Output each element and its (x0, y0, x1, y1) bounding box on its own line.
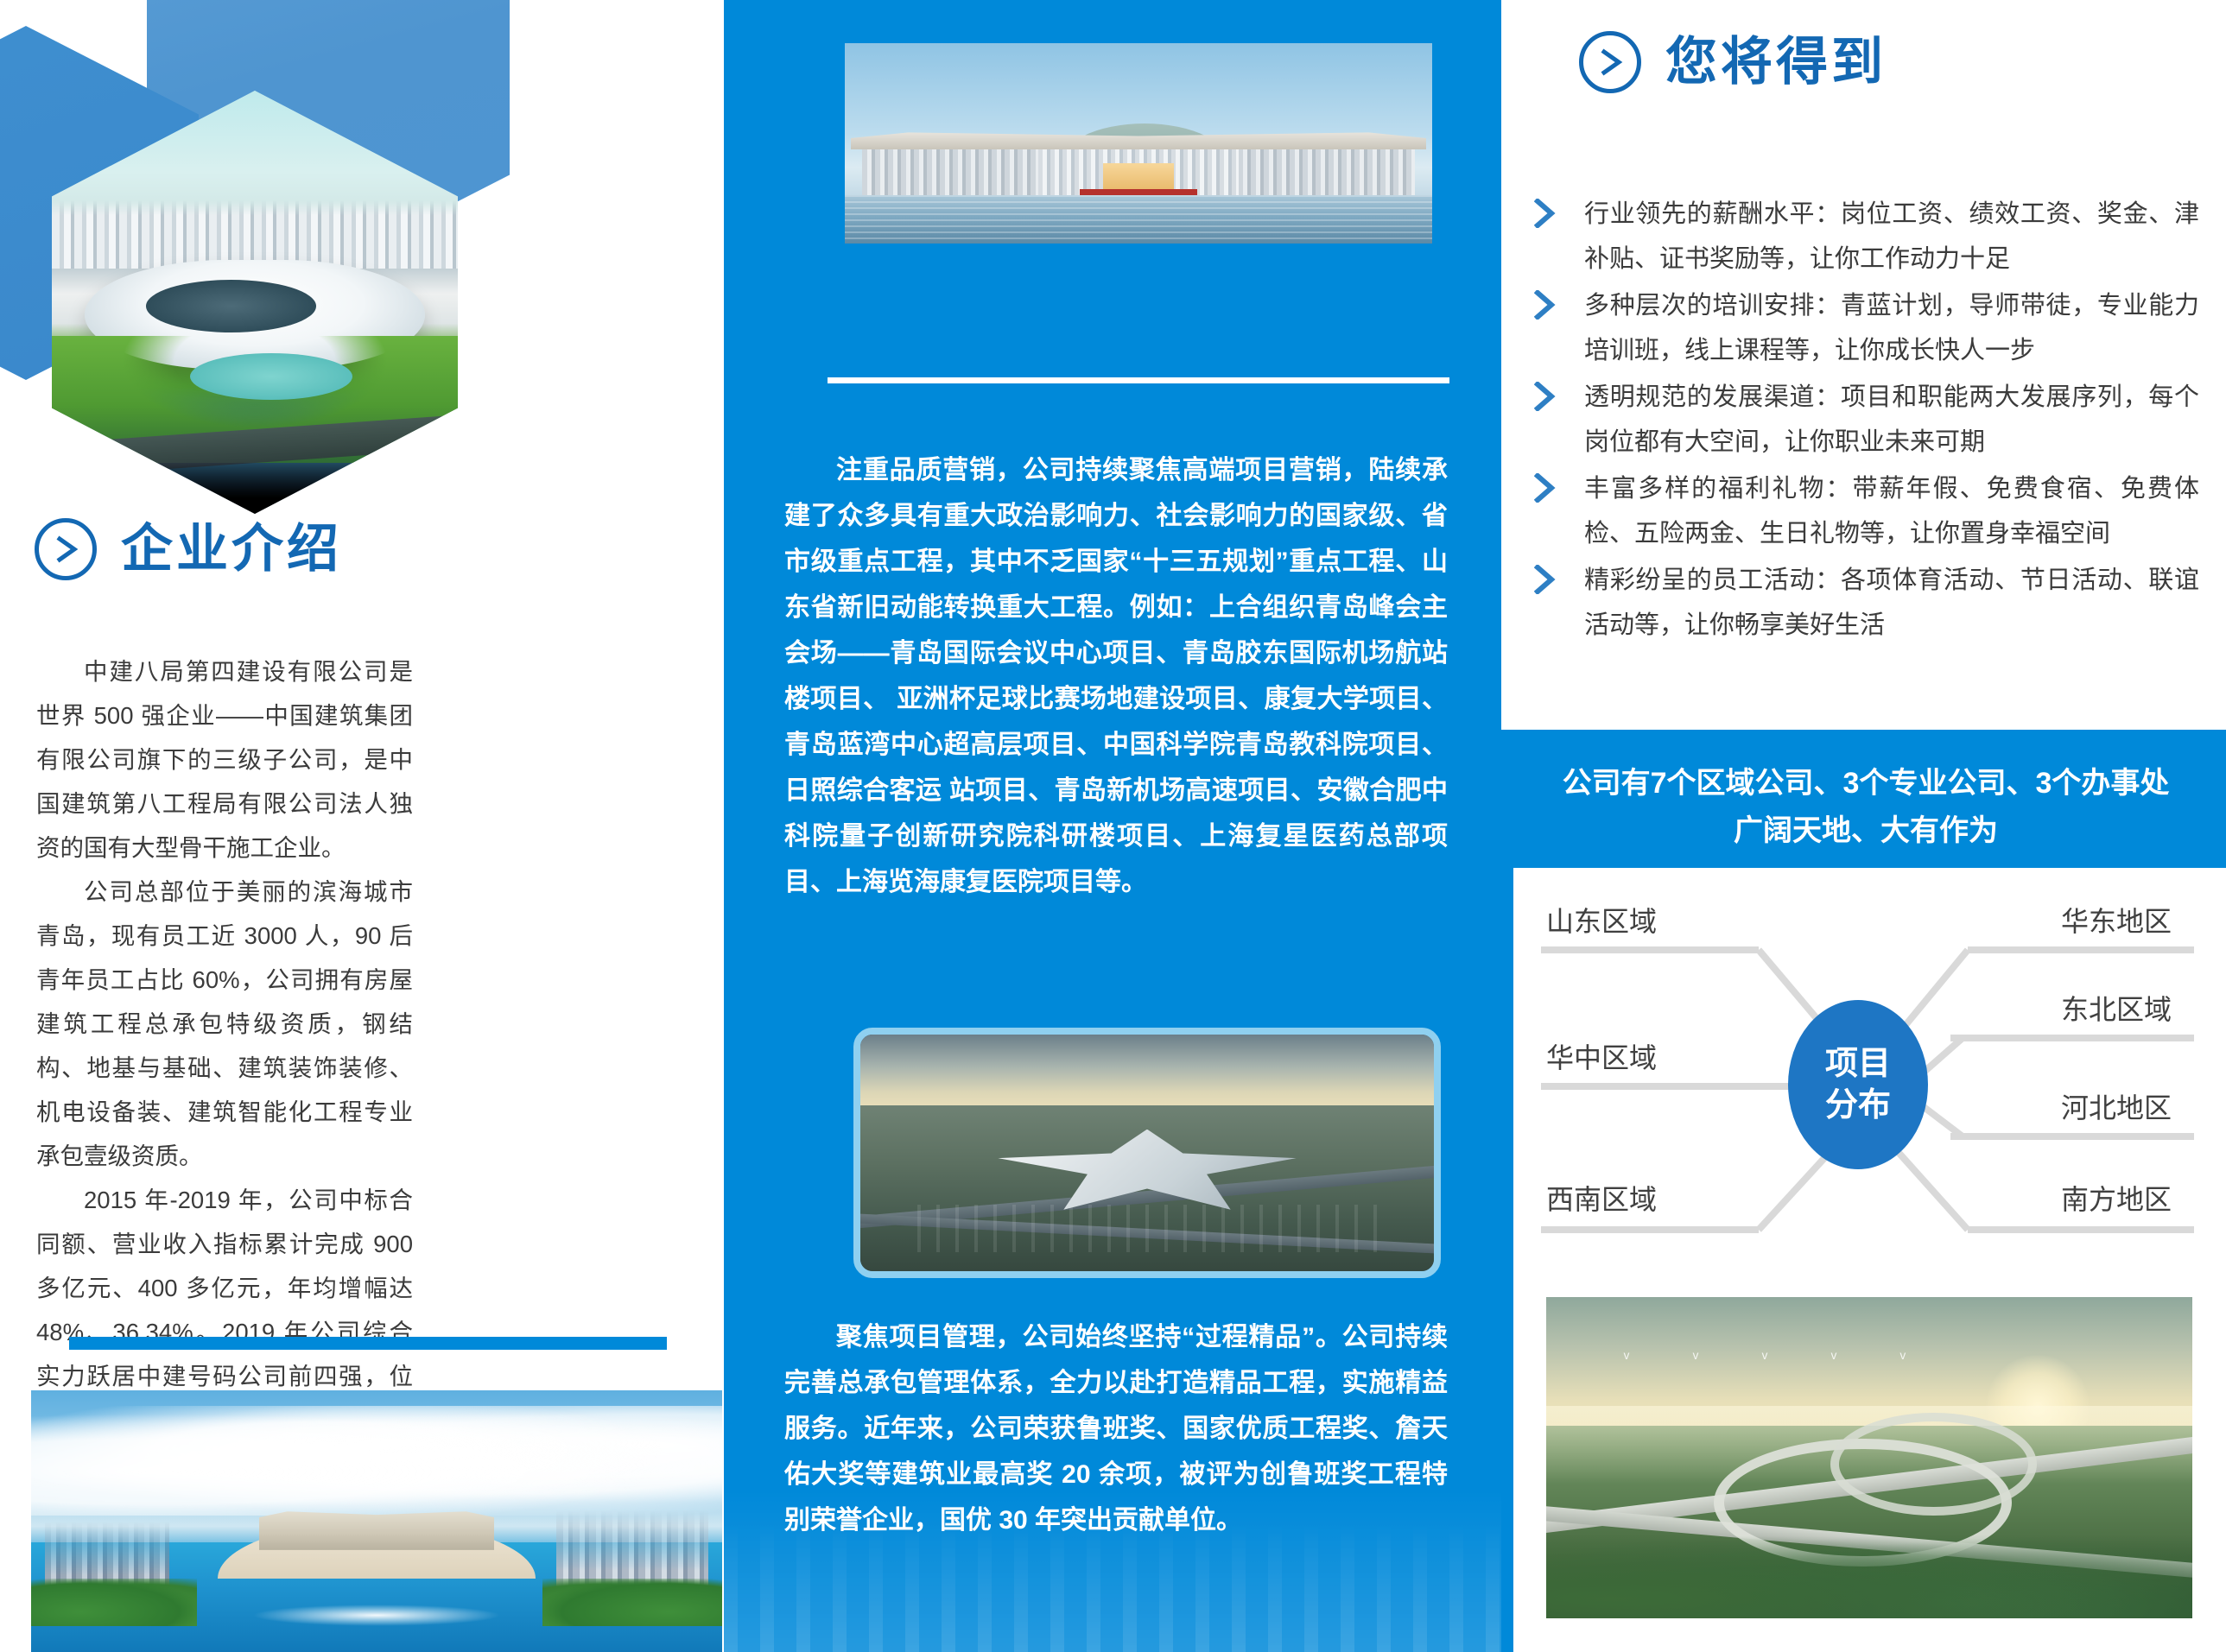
seaside-conference-center-photo (31, 1390, 722, 1652)
section-heading-company-intro: 企业介绍 (35, 518, 342, 580)
left-column-divider (69, 1337, 667, 1350)
company-intro-body: 中建八局第四建设有限公司是世界 500 强企业——中国建筑集团有限公司旗下的三级… (36, 649, 413, 1442)
right-accent-bar (1501, 868, 1513, 1652)
distribution-bar-left-1 (1541, 946, 1759, 953)
distribution-node-shandong: 山东区域 (1546, 900, 1657, 940)
chevron-right-icon (1534, 199, 1569, 233)
conference-center-photo (845, 43, 1432, 244)
chevron-right-icon (1534, 290, 1569, 325)
list-item: 精彩纷呈的员工活动：各项体育活动、节日活动、联谊活动等，让你畅享美好生活 (1534, 558, 2199, 648)
chevron-right-icon (1534, 565, 1569, 599)
brochure-page: 企业介绍 中建八局第四建设有限公司是世界 500 强企业——中国建筑集团有限公司… (0, 0, 2226, 1652)
distribution-node-huazhong: 华中区域 (1546, 1036, 1657, 1076)
section-heading-you-will-get: 您将得到 (1579, 31, 1887, 93)
project-distribution-diagram: 山东区域 华中区域 西南区域 华东地区 东北区域 河北地区 南方地区 项目 分布 (1513, 888, 2204, 1250)
distribution-center-badge: 项目 分布 (1788, 1000, 1928, 1169)
distribution-node-huadong: 华东地区 (2061, 900, 2172, 940)
chevron-right-icon (1534, 382, 1569, 416)
benefit-text: 精彩纷呈的员工活动：各项体育活动、节日活动、联谊活动等，让你畅享美好生活 (1584, 566, 2199, 639)
company-intro-paragraph-2: 公司总部位于美丽的滨海城市青岛，现有员工近 3000 人，90 后青年员工占比 … (36, 870, 413, 1178)
distribution-bar-right-1 (1968, 946, 2194, 953)
banner-line-2: 广阔天地、大有作为 (1520, 807, 2211, 855)
distribution-bar-left-2 (1541, 1083, 1759, 1090)
distribution-bar-left-3 (1541, 1226, 1759, 1233)
distribution-center-line-1: 项目 (1825, 1043, 1891, 1085)
management-paragraph: 聚焦项目管理，公司始终坚持“过程精品”。公司持续完善总承包管理体系，全力以赴打造… (784, 1314, 1448, 1543)
highway-interchange-photo: ᵛ ᵛ ᵛ ᵛ ᵛ (1546, 1297, 2192, 1618)
list-item: 透明规范的发展渠道：项目和职能两大发展序列，每个岗位都有大空间，让你职业未来可期 (1534, 375, 2199, 465)
page-title-company-intro: 企业介绍 (121, 523, 342, 575)
middle-column-body: 注重品质营销，公司持续聚焦高端项目营销，陆续承建了众多具有重大政治影响力、社会影… (784, 447, 1448, 905)
company-intro-paragraph-1: 中建八局第四建设有限公司是世界 500 强企业——中国建筑集团有限公司旗下的三级… (36, 649, 413, 870)
distribution-node-xinan: 西南区域 (1546, 1178, 1657, 1218)
circle-play-icon (35, 518, 97, 580)
middle-column-body-2: 聚焦项目管理，公司始终坚持“过程精品”。公司持续完善总承包管理体系，全力以赴打造… (784, 1314, 1448, 1543)
banner-line-1: 公司有7个区域公司、3个专业公司、3个办事处 (1520, 760, 2211, 807)
benefit-text: 行业领先的薪酬水平：岗位工资、绩效工资、奖金、津补贴、证书奖励等，让你工作动力十… (1584, 200, 2199, 273)
benefit-text: 透明规范的发展渠道：项目和职能两大发展序列，每个岗位都有大空间，让你职业未来可期 (1584, 383, 2199, 456)
list-item: 多种层次的培训安排：青蓝计划，导师带徒，专业能力培训班，线上课程等，让你成长快人… (1534, 283, 2199, 373)
distribution-bar-right-4 (1968, 1226, 2194, 1233)
chevron-right-icon (1534, 473, 1569, 508)
airport-terminal-photo (853, 1028, 1441, 1278)
middle-column-rule (828, 377, 1449, 383)
distribution-bar-right-3 (1950, 1133, 2194, 1140)
list-item: 行业领先的薪酬水平：岗位工资、绩效工资、奖金、津补贴、证书奖励等，让你工作动力十… (1534, 192, 2199, 282)
benefit-text: 丰富多样的福利礼物：带薪年假、免费食宿、免费体检、五险两金、生日礼物等，让你置身… (1584, 475, 2199, 548)
distribution-center-line-2: 分布 (1825, 1085, 1891, 1126)
benefit-text: 多种层次的培训安排：青蓝计划，导师带徒，专业能力培训班，线上课程等，让你成长快人… (1584, 292, 2199, 364)
company-scale-banner: 公司有7个区域公司、3个专业公司、3个办事处 广阔天地、大有作为 (1520, 760, 2211, 855)
benefits-list: 行业领先的薪酬水平：岗位工资、绩效工资、奖金、津补贴、证书奖励等，让你工作动力十… (1534, 192, 2199, 649)
distribution-node-hebei: 河北地区 (2061, 1086, 2172, 1126)
marketing-paragraph: 注重品质营销，公司持续聚焦高端项目营销，陆续承建了众多具有重大政治影响力、社会影… (784, 447, 1448, 905)
distribution-node-nanfang: 南方地区 (2061, 1178, 2172, 1218)
distribution-bar-right-2 (1950, 1035, 2194, 1041)
page-title-you-will-get: 您将得到 (1665, 36, 1887, 88)
circle-play-icon (1579, 31, 1641, 93)
distribution-node-dongbei: 东北区域 (2061, 988, 2172, 1028)
hexagon-photo-cluster (0, 0, 484, 535)
list-item: 丰富多样的福利礼物：带薪年假、免费食宿、免费体检、五险两金、生日礼物等，让你置身… (1534, 466, 2199, 556)
birds-decor: ᵛ ᵛ ᵛ ᵛ ᵛ (1624, 1349, 1979, 1407)
